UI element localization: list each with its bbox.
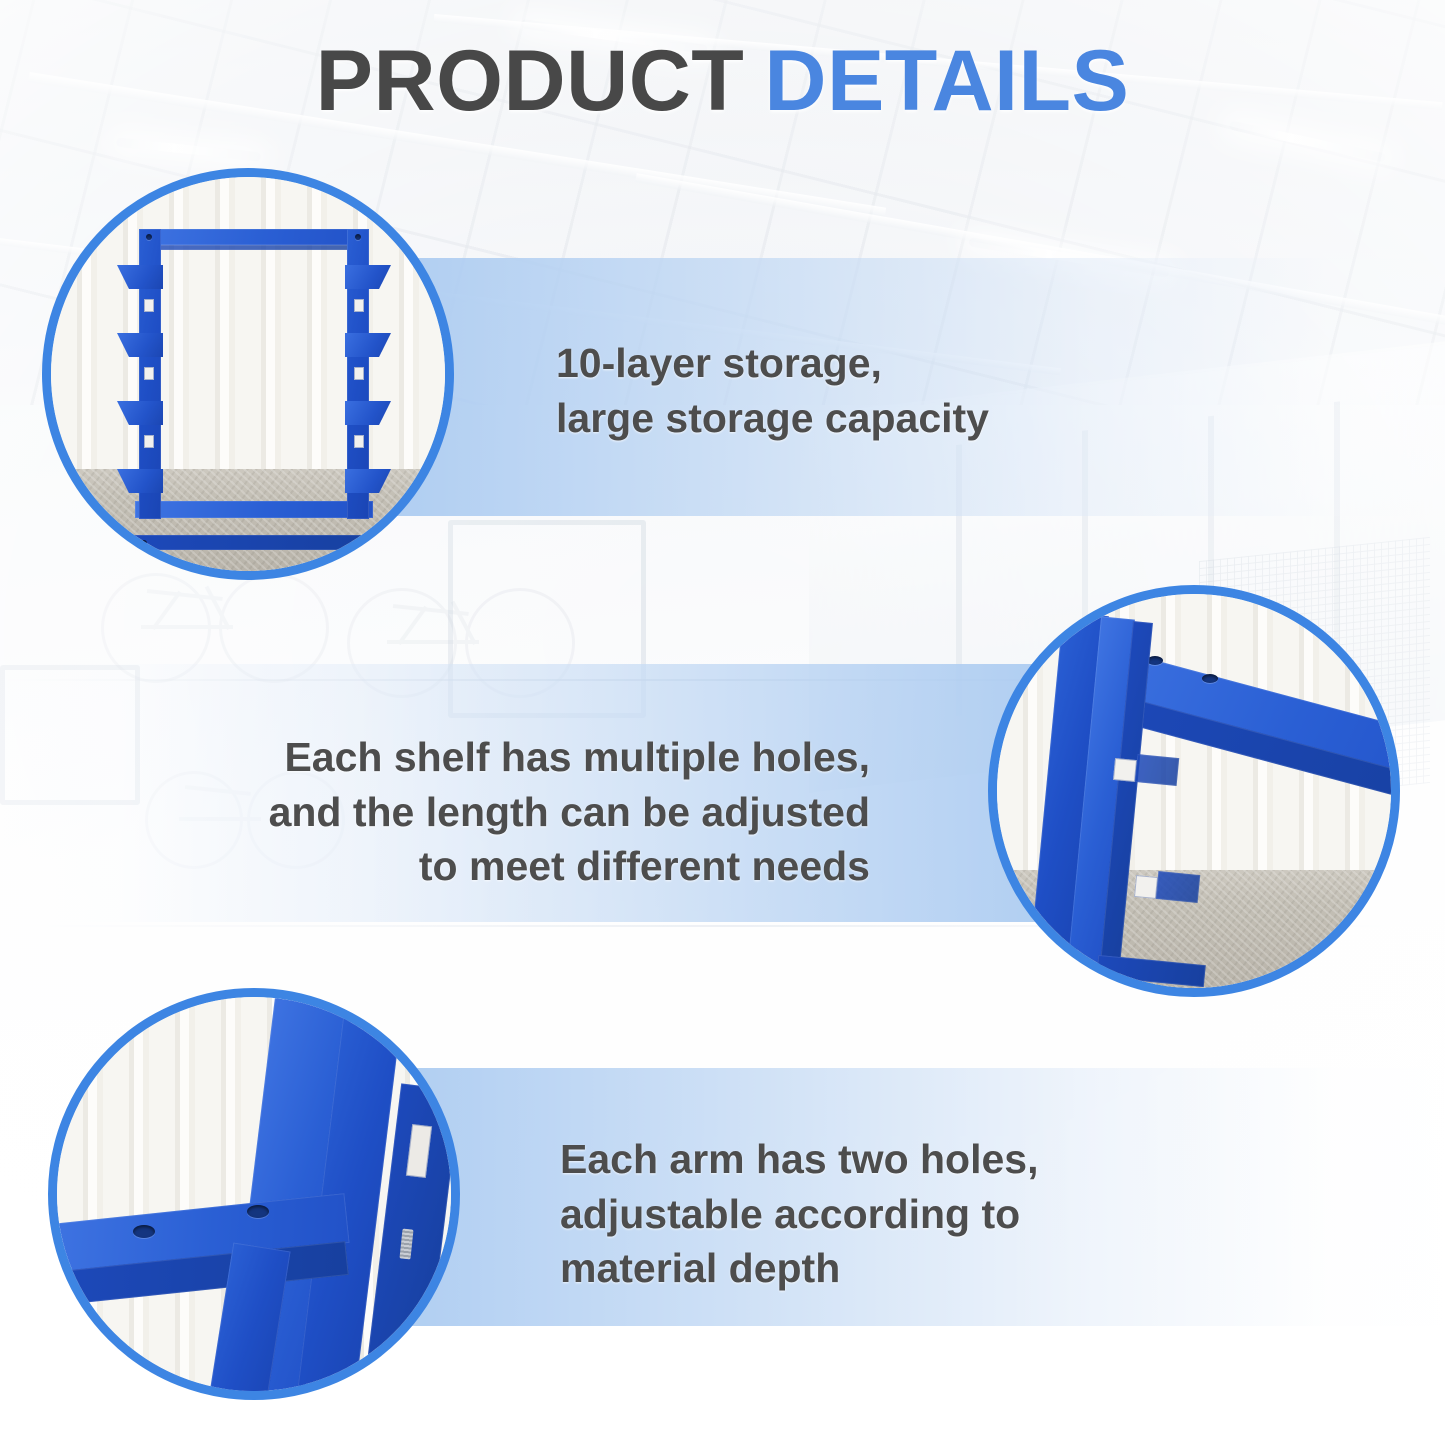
page-title-product: PRODUCT (316, 33, 745, 129)
upright-slot (144, 435, 154, 448)
rack-top-beam-shadow (139, 245, 367, 250)
feature-2-photo-circle (988, 585, 1400, 997)
arm-bolt-hole (1202, 674, 1218, 683)
beam-hole (355, 234, 361, 240)
concrete-floor (51, 469, 445, 571)
feature-1-photo (51, 177, 445, 571)
upright-slot (354, 435, 364, 448)
product-details-infographic: PRODUCTDETAILS (0, 0, 1445, 1445)
upright-slot (144, 299, 154, 312)
feature-3-photo-circle (48, 988, 460, 1400)
feature-3-photo (57, 997, 451, 1391)
feature-2-caption: Each shelf has multiple holes, and the l… (180, 730, 870, 894)
upright-slot (354, 299, 364, 312)
rack-bottom-beam (135, 501, 373, 518)
beam-hole (146, 234, 152, 240)
feature-3-caption: Each arm has two holes, adjustable accor… (560, 1132, 1200, 1296)
feature-2-photo (997, 594, 1391, 988)
upright-adjustment-slot (1134, 875, 1158, 899)
rack-base-beam (125, 535, 381, 550)
feature-1-caption: 10-layer storage, large storage capacity (556, 336, 1176, 445)
upright-slot (354, 367, 364, 380)
feature-1-photo-circle (42, 168, 454, 580)
rack-top-beam (139, 229, 367, 245)
beam-hole (141, 540, 147, 546)
beam-hole (359, 540, 365, 546)
arm-bolt-hole (133, 1225, 155, 1238)
page-title-details: DETAILS (764, 33, 1129, 129)
upright-adjustment-slot (1113, 758, 1137, 782)
slot-recess (1156, 871, 1200, 903)
upright-slot (144, 367, 154, 380)
page-title: PRODUCTDETAILS (0, 38, 1445, 124)
arm-bolt-hole (247, 1205, 269, 1218)
slot-recess (1135, 754, 1179, 786)
